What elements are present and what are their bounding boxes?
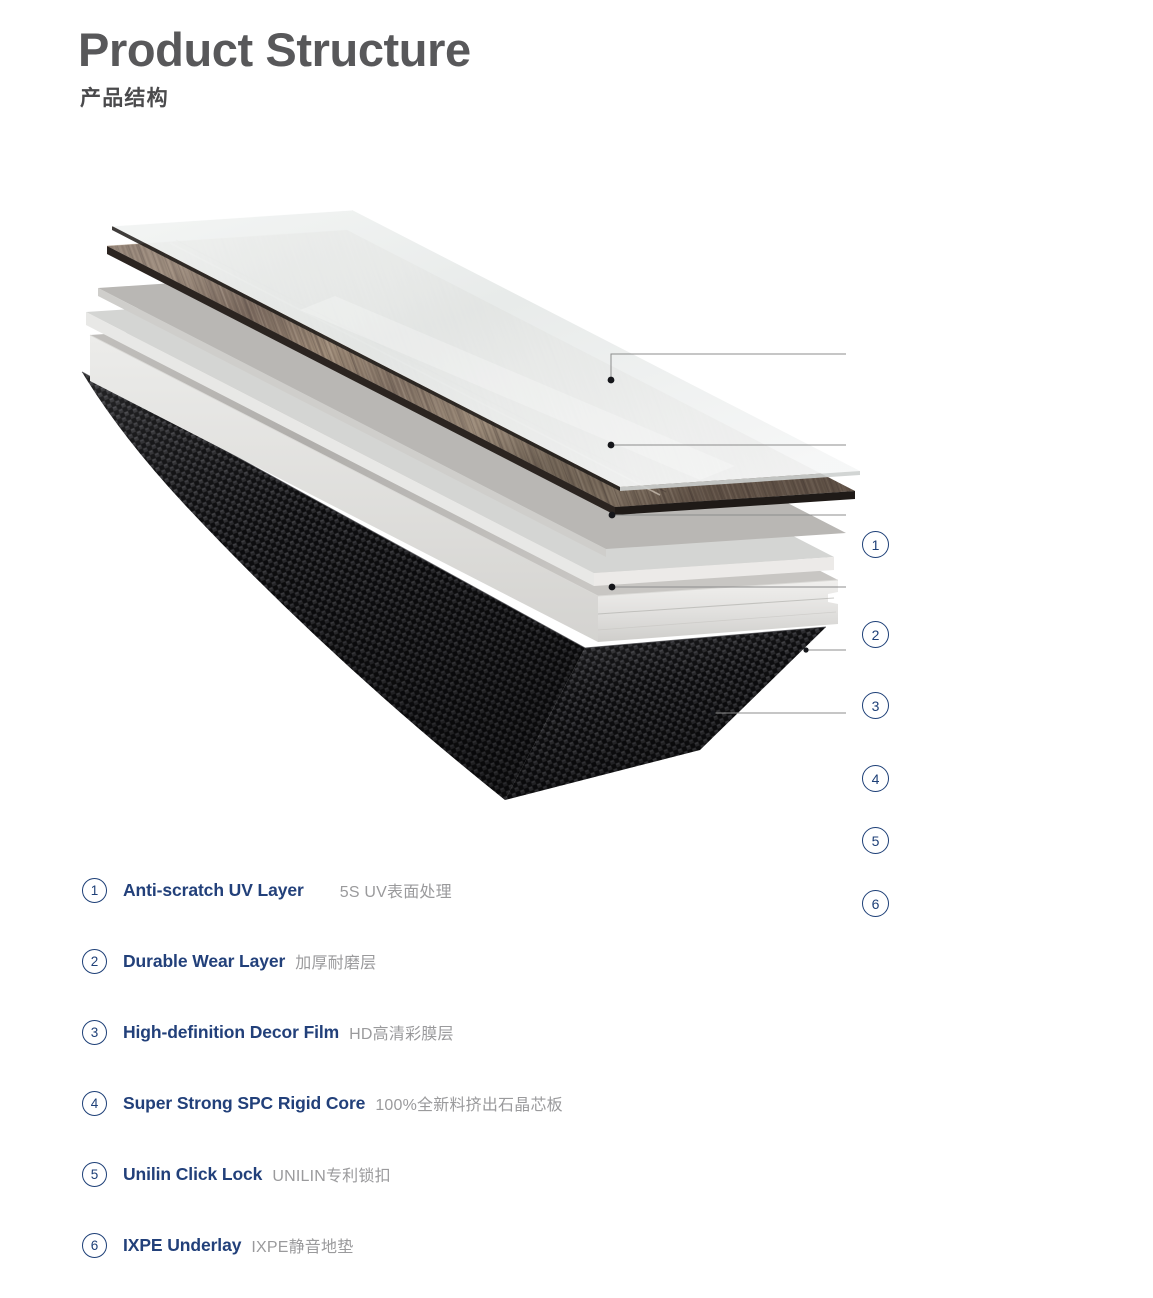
leader-dot-3	[609, 512, 616, 519]
legend-number-5: 5	[82, 1162, 107, 1187]
callout-circle-1[interactable]: 1	[862, 531, 889, 558]
legend-label-en-2: Durable Wear Layer	[123, 951, 285, 972]
product-structure-diagram	[0, 190, 960, 850]
legend-label-cn-4: 100%全新料挤出石晶芯板	[375, 1091, 563, 1115]
layer-legend: 1 Anti-scratch UV Layer 5S UV表面处理 2 Dura…	[82, 872, 982, 1298]
legend-label-en-6: IXPE Underlay	[123, 1235, 241, 1256]
legend-number-2: 2	[82, 949, 107, 974]
leader-dot-5	[803, 647, 808, 652]
callout-circle-5[interactable]: 5	[862, 827, 889, 854]
legend-number-4: 4	[82, 1091, 107, 1116]
legend-item-1[interactable]: 1 Anti-scratch UV Layer 5S UV表面处理	[82, 872, 982, 908]
legend-number-6: 6	[82, 1233, 107, 1258]
legend-label-en-5: Unilin Click Lock	[123, 1164, 262, 1185]
callout-circle-2[interactable]: 2	[862, 621, 889, 648]
page-header: Product Structure 产品结构	[78, 24, 778, 110]
legend-label-cn-1: 5S UV表面处理	[340, 878, 452, 902]
page-subtitle: 产品结构	[80, 87, 778, 110]
callout-circle-3[interactable]: 3	[862, 692, 889, 719]
leader-dot-2	[608, 442, 615, 449]
page-title: Product Structure	[78, 24, 778, 77]
legend-item-4[interactable]: 4 Super Strong SPC Rigid Core 100%全新料挤出石…	[82, 1085, 982, 1121]
legend-label-en-4: Super Strong SPC Rigid Core	[123, 1093, 365, 1114]
leader-dot-1	[608, 377, 615, 384]
legend-label-cn-2: 加厚耐磨层	[295, 949, 376, 973]
legend-label-cn-3: HD高清彩膜层	[349, 1020, 454, 1044]
legend-item-5[interactable]: 5 Unilin Click Lock UNILIN专利锁扣	[82, 1156, 982, 1192]
legend-label-cn-6: IXPE静音地垫	[251, 1233, 353, 1257]
legend-number-3: 3	[82, 1020, 107, 1045]
legend-label-en-3: High-definition Decor Film	[123, 1022, 339, 1043]
legend-number-1: 1	[82, 878, 107, 903]
legend-item-6[interactable]: 6 IXPE Underlay IXPE静音地垫	[82, 1227, 982, 1263]
legend-label-en-1: Anti-scratch UV Layer	[123, 880, 304, 901]
legend-label-cn-5: UNILIN专利锁扣	[272, 1162, 390, 1186]
leader-dot-4	[609, 584, 616, 591]
callout-circle-4[interactable]: 4	[862, 765, 889, 792]
leader-dot-6	[710, 710, 715, 715]
legend-item-2[interactable]: 2 Durable Wear Layer 加厚耐磨层	[82, 943, 982, 979]
legend-item-3[interactable]: 3 High-definition Decor Film HD高清彩膜层	[82, 1014, 982, 1050]
